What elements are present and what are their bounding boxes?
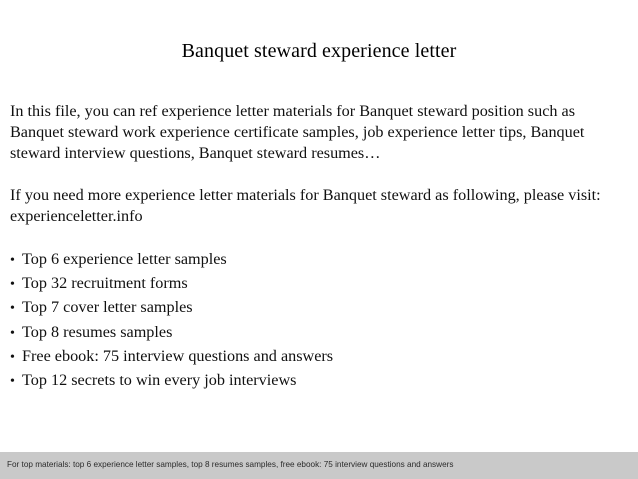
visit-paragraph: If you need more experience letter mater… [10, 185, 630, 227]
paragraph-spacer [10, 164, 630, 185]
list-item-label: Top 6 experience letter samples [22, 250, 227, 268]
list-item-label: Top 32 recruitment forms [22, 274, 188, 292]
list-item-label: Top 7 cover letter samples [22, 298, 193, 316]
list-item: •Free ebook: 75 interview questions and … [10, 345, 630, 369]
bullet-icon: • [10, 371, 22, 393]
list-item: •Top 8 resumes samples [10, 321, 630, 345]
materials-list: •Top 6 experience letter samples •Top 32… [10, 248, 630, 393]
list-item: •Top 12 secrets to win every job intervi… [10, 369, 630, 393]
page-title: Banquet steward experience letter [0, 38, 638, 64]
bullet-icon: • [10, 274, 22, 296]
footer-text: For top materials: top 6 experience lett… [7, 460, 453, 470]
list-item-label: Free ebook: 75 interview questions and a… [22, 347, 333, 365]
list-item: •Top 6 experience letter samples [10, 248, 630, 272]
bullet-icon: • [10, 250, 22, 272]
bullet-icon: • [10, 347, 22, 369]
slide-body: In this file, you can ref experience let… [10, 101, 630, 393]
bullet-icon: • [10, 298, 22, 320]
footer-bar: For top materials: top 6 experience lett… [0, 452, 638, 479]
list-spacer [10, 227, 630, 248]
intro-paragraph: In this file, you can ref experience let… [10, 101, 630, 164]
slide-canvas: Banquet steward experience letter In thi… [0, 0, 638, 479]
list-item-label: Top 12 secrets to win every job intervie… [22, 371, 296, 389]
list-item: •Top 32 recruitment forms [10, 272, 630, 296]
bullet-icon: • [10, 323, 22, 345]
list-item: •Top 7 cover letter samples [10, 296, 630, 320]
list-item-label: Top 8 resumes samples [22, 323, 172, 341]
